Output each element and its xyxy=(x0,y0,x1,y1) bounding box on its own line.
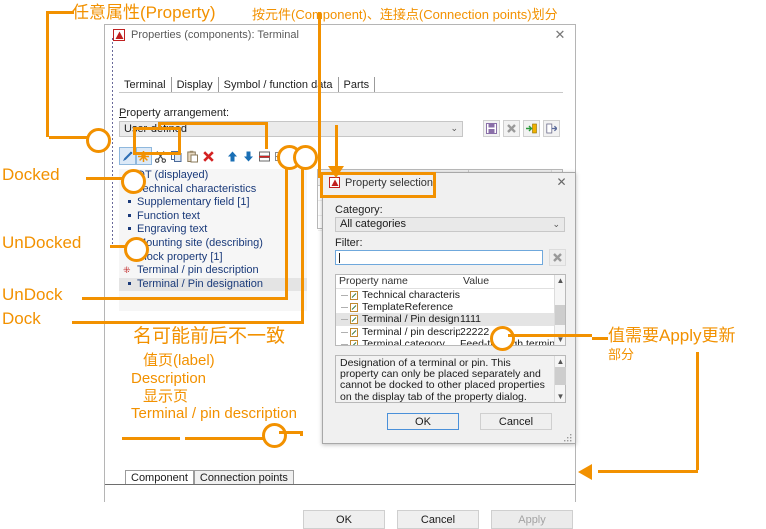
bullet-icon xyxy=(128,200,131,203)
tree-item-label: Block property [1] xyxy=(137,251,223,263)
category-select[interactable]: All categories ⌄ xyxy=(335,217,565,232)
annotation-circle-value xyxy=(490,326,515,351)
annotation-undock-label: UnDock xyxy=(2,286,62,303)
annotation-circle-dock xyxy=(293,145,318,170)
annotation-box-toolbar xyxy=(133,127,181,155)
column-header-value: Value xyxy=(463,275,565,288)
property-doc-icon xyxy=(350,291,358,300)
annotation-circle-connection-points xyxy=(262,423,287,448)
bullet-icon xyxy=(128,282,131,285)
chevron-down-icon: ⌄ xyxy=(552,218,560,231)
export-arrangement-button[interactable] xyxy=(543,120,560,137)
description-scrollbar[interactable]: ▲ ▼ xyxy=(554,356,565,402)
annotation-dock-label: Dock xyxy=(2,310,41,327)
property-doc-icon xyxy=(350,303,358,312)
filter-label: Filter: xyxy=(335,237,363,249)
annotation-line-apply-dash xyxy=(592,337,608,340)
category-label: Category: xyxy=(335,204,383,216)
annotation-line-center-vert xyxy=(318,12,321,178)
main-window-title: Properties (components): Terminal xyxy=(131,29,299,41)
annotation-line-undock xyxy=(82,297,288,300)
annotation-line-apply-vert xyxy=(696,352,699,470)
scroll-up-icon[interactable]: ▲ xyxy=(555,356,566,367)
annotation-name-mismatch: 名可能前后不一致 xyxy=(133,327,285,346)
main-tabstrip: Terminal Display Symbol / function data … xyxy=(119,75,375,93)
tree-item-terminal-pin-description[interactable]: ⁜ Terminal / pin description xyxy=(119,264,307,278)
category-value: All categories xyxy=(340,218,406,231)
save-arrangement-button[interactable] xyxy=(483,120,500,137)
scroll-up-icon[interactable]: ▲ xyxy=(555,275,566,286)
annotation-line-to-circle1 xyxy=(49,136,87,139)
property-arrangement-label: Property arrangement: xyxy=(119,107,229,119)
tree-item-label: Mounting site (describing) xyxy=(137,237,263,249)
tree-item-terminal-pin-designation[interactable]: Terminal / Pin designation xyxy=(119,278,307,292)
annotation-line-box-up xyxy=(158,125,161,129)
tree-item-label: Function text xyxy=(137,210,200,222)
subtab-component[interactable]: Component xyxy=(125,470,194,485)
annotation-arrowhead-apply xyxy=(578,464,592,480)
dashed-guide-line xyxy=(112,38,113,248)
annotation-value-page: 值页(label) xyxy=(143,353,215,368)
annotation-top-title: 任意属性(Property) xyxy=(72,4,216,21)
annotation-top-subtitle: 按元件(Component)、连接点(Connection points)划分 xyxy=(252,8,558,21)
tree-item-technical-characteristics[interactable]: Technical characteristics xyxy=(119,183,307,197)
tree-connector-icon xyxy=(341,319,348,320)
annotation-description: Description xyxy=(131,371,206,386)
property-selection-dialog: Property selection ✕ Category: All categ… xyxy=(322,172,576,444)
dock-icon[interactable] xyxy=(256,147,272,165)
annotation-docked-label: Docked xyxy=(2,166,60,183)
annotation-line-box-down xyxy=(265,122,268,149)
property-doc-icon xyxy=(350,340,358,346)
annotation-line-apply-horiz xyxy=(598,470,698,473)
resize-grip-icon[interactable] xyxy=(564,433,572,441)
list-item[interactable]: Terminal category Feed-through terminal xyxy=(336,338,565,346)
annotation-terminal-pin-description: Terminal / pin description xyxy=(131,406,297,421)
delete-arrangement-button[interactable] xyxy=(503,120,520,137)
tab-display[interactable]: Display xyxy=(172,77,219,93)
subtab-connection-points[interactable]: Connection points xyxy=(194,470,294,485)
tree-item-function-text[interactable]: Function text xyxy=(119,210,307,224)
tree-item-label: DT (displayed) xyxy=(137,169,208,181)
text-caret xyxy=(339,253,340,263)
annotation-underline-connection-points xyxy=(185,437,263,440)
property-doc-icon xyxy=(350,328,358,337)
annotation-line-undock-vert xyxy=(285,156,288,300)
annotation-apply-note: 值需要Apply更新 xyxy=(608,327,736,344)
bottom-subtabs: Component Connection points xyxy=(125,469,294,485)
column-header-property-name: Property name xyxy=(336,275,463,288)
subtabs-divider xyxy=(105,484,575,485)
apply-button[interactable]: Apply xyxy=(491,510,573,529)
ok-button[interactable]: OK xyxy=(303,510,385,529)
move-down-icon[interactable] xyxy=(240,147,256,165)
tree-connector-icon xyxy=(341,344,348,345)
annotation-arrowhead-property xyxy=(328,166,344,178)
annotation-undocked-label: UnDocked xyxy=(2,234,81,251)
paste-icon[interactable] xyxy=(185,147,201,165)
annotation-line-dock xyxy=(72,321,304,324)
property-doc-icon xyxy=(350,315,358,324)
app-logo-icon xyxy=(113,29,125,41)
bullet-icon xyxy=(128,214,131,217)
tree-item-label: Engraving text xyxy=(137,223,207,235)
tab-parts[interactable]: Parts xyxy=(339,77,376,93)
cancel-button[interactable]: Cancel xyxy=(397,510,479,529)
list-item-value: 1111 xyxy=(460,313,565,325)
tree-item-supplementary-field[interactable]: Supplementary field [1] xyxy=(119,196,307,210)
annotation-apply-note2: 部分 xyxy=(608,348,634,361)
import-arrangement-button[interactable] xyxy=(523,120,540,137)
property-description-box: Designation of a terminal or pin. This p… xyxy=(335,355,566,403)
property-tree[interactable]: ⇥ DT (displayed) Technical characteristi… xyxy=(119,169,307,311)
annotation-underline-component xyxy=(122,437,180,440)
annotation-line-value-to-note xyxy=(508,334,592,337)
tree-item-label: Terminal / pin description xyxy=(137,264,259,276)
property-selection-cancel-button[interactable]: Cancel xyxy=(480,413,552,430)
list-item[interactable]: TemplateReference xyxy=(336,301,565,313)
tab-terminal[interactable]: Terminal xyxy=(119,77,172,93)
list-item[interactable]: Technical characteristics xyxy=(336,289,565,301)
move-up-icon[interactable] xyxy=(224,147,240,165)
close-icon[interactable]: ✕ xyxy=(553,28,567,42)
filter-input[interactable] xyxy=(335,250,543,265)
scroll-down-icon[interactable]: ▼ xyxy=(555,391,566,402)
annotation-circle-undocked xyxy=(124,237,149,262)
annotation-line-connection-points-down xyxy=(300,431,303,436)
tree-connector-icon xyxy=(341,295,348,296)
list-item[interactable]: Terminal / Pin designation 1111 xyxy=(336,313,565,325)
property-selection-ok-button[interactable]: OK xyxy=(387,413,459,430)
main-window-titlebar: Properties (components): Terminal ✕ xyxy=(105,25,575,45)
property-description-text: Designation of a terminal or pin. This p… xyxy=(340,358,546,403)
tree-item-label: Terminal / Pin designation xyxy=(137,278,263,290)
scrollbar-thumb[interactable] xyxy=(555,305,566,325)
tree-item-label: Supplementary field [1] xyxy=(137,196,250,208)
tree-item-engraving-text[interactable]: Engraving text xyxy=(119,223,307,237)
annotation-line-top-horiz xyxy=(46,11,74,14)
tree-item-label: Technical characteristics xyxy=(137,183,256,195)
annotation-line-box-right xyxy=(158,122,268,125)
close-icon[interactable]: ✕ xyxy=(555,176,568,189)
bullet-icon xyxy=(128,227,131,230)
chevron-down-icon: ⌄ xyxy=(450,123,458,134)
annotation-line-dock-vert xyxy=(301,156,304,324)
list-header-row: Property name Value xyxy=(336,275,565,289)
annotation-circle-docked xyxy=(121,169,146,194)
delete-red-x-icon[interactable] xyxy=(201,147,217,165)
tree-connector-icon xyxy=(341,307,348,308)
tree-connector-icon xyxy=(341,332,348,333)
clear-filter-button[interactable] xyxy=(549,249,566,266)
annotation-display-page: 显示页 xyxy=(143,389,188,404)
annotation-line-left-vert xyxy=(46,11,49,137)
annotation-circle-property xyxy=(86,128,111,153)
tabstrip-divider xyxy=(119,92,563,93)
undock-marker-icon: ⁜ xyxy=(123,265,131,276)
scrollbar-thumb[interactable] xyxy=(555,367,566,385)
tree-item-dt-displayed[interactable]: ⇥ DT (displayed) xyxy=(119,169,307,183)
